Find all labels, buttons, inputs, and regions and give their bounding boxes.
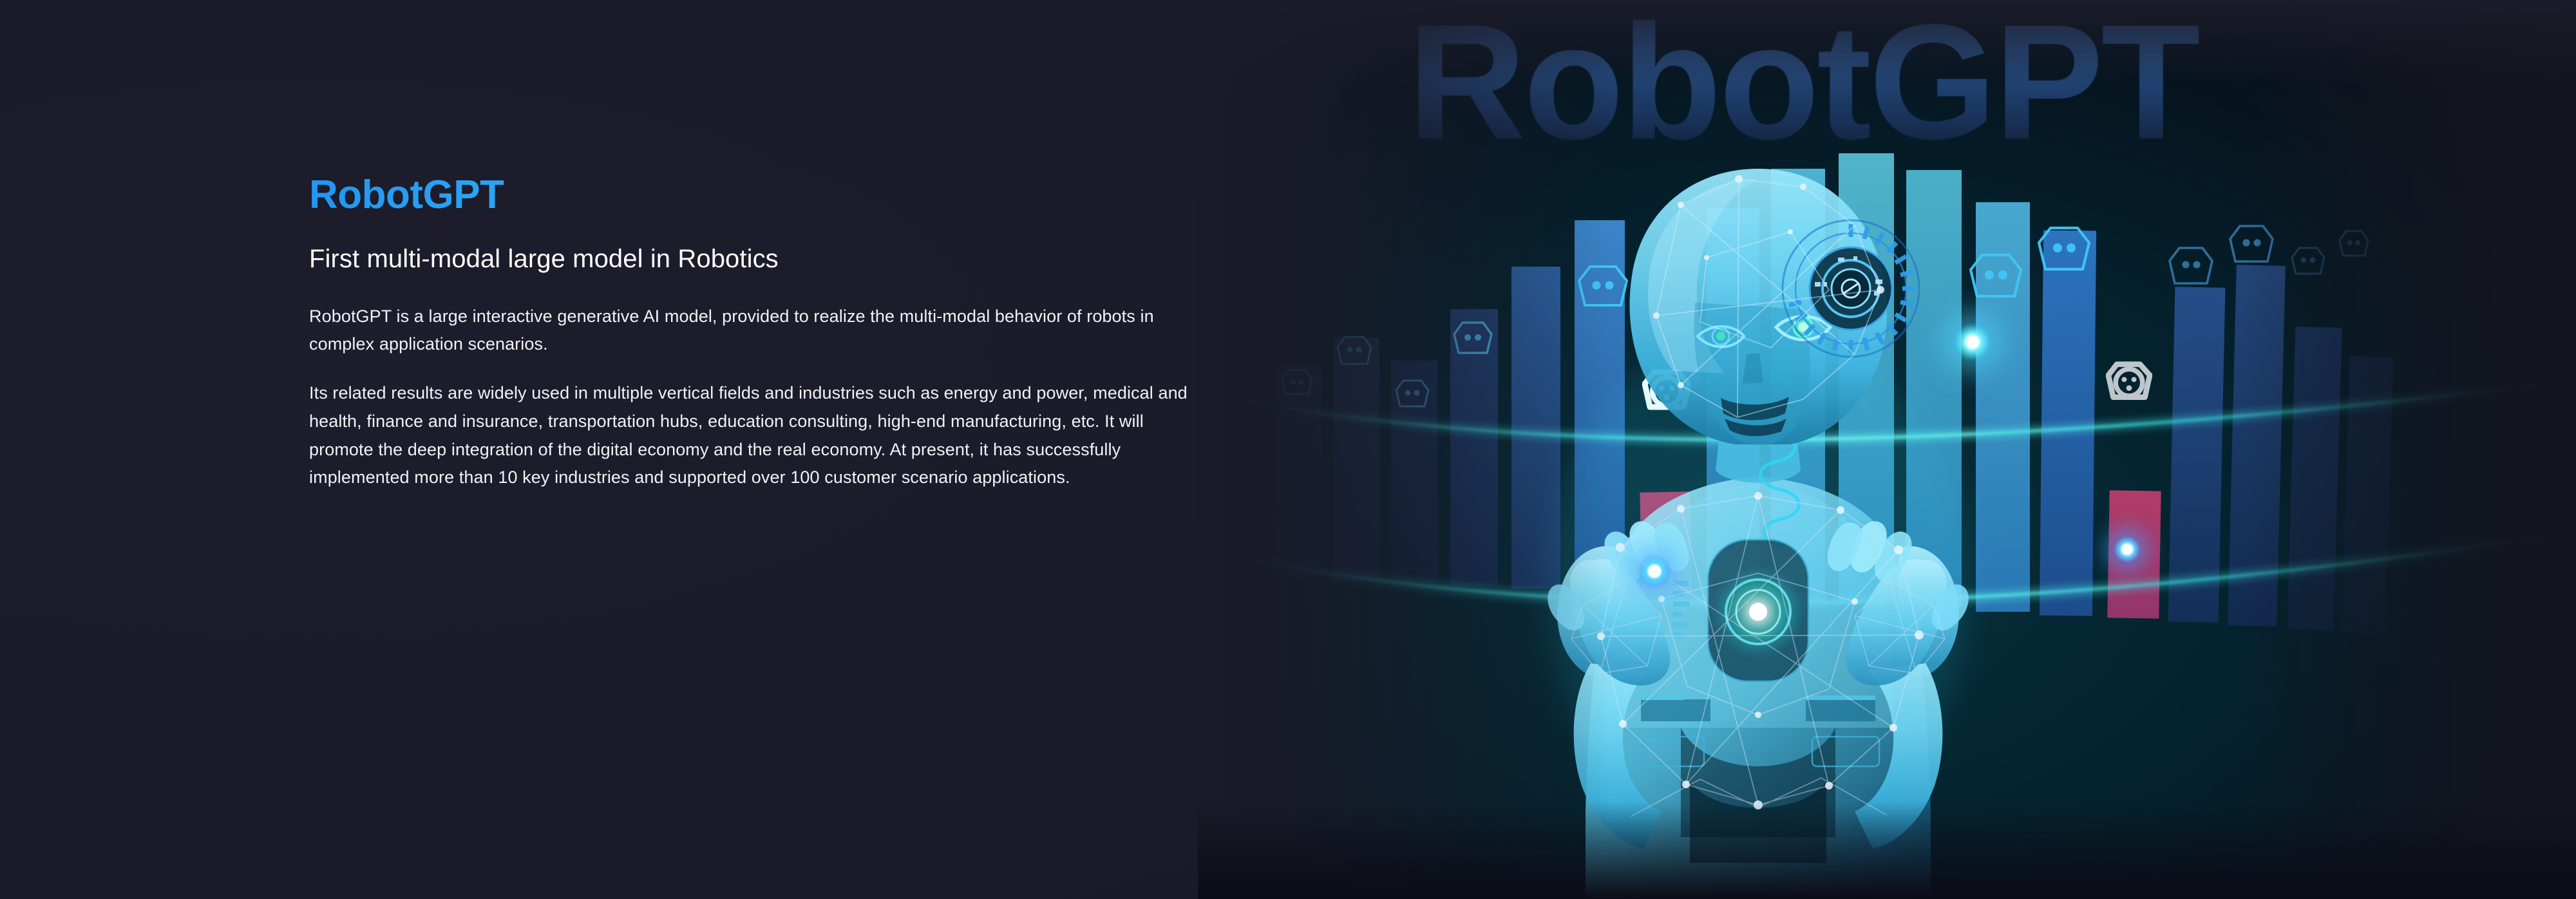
glow-ring-icon xyxy=(1637,554,1672,589)
description-paragraph-1: RobotGPT is a large interactive generati… xyxy=(309,303,1201,359)
robotgpt-hero-banner: RobotGPT xyxy=(0,0,2576,899)
glow-ring-icon xyxy=(1953,322,1993,362)
surprised-face-icon xyxy=(2106,361,2152,406)
brand-title: RobotGPT xyxy=(309,174,1204,216)
tagline: First multi-modal large model in Robotic… xyxy=(309,243,1204,274)
hero-copy-column: RobotGPT First multi-modal large model i… xyxy=(309,174,1204,492)
hero-left-fade xyxy=(1198,0,1610,899)
chart-bar xyxy=(2168,287,2226,623)
hero-top-fade xyxy=(1198,0,2576,84)
robot-face-hexagon-icon xyxy=(2168,246,2214,291)
glow-ring-icon xyxy=(2112,535,2142,564)
hero-right-fade xyxy=(2241,0,2576,899)
hero-artwork: RobotGPT xyxy=(1198,0,2576,899)
hero-bottom-fade xyxy=(1198,802,2576,899)
chart-bar xyxy=(2040,231,2096,616)
description-paragraph-2: Its related results are widely used in m… xyxy=(309,379,1201,492)
